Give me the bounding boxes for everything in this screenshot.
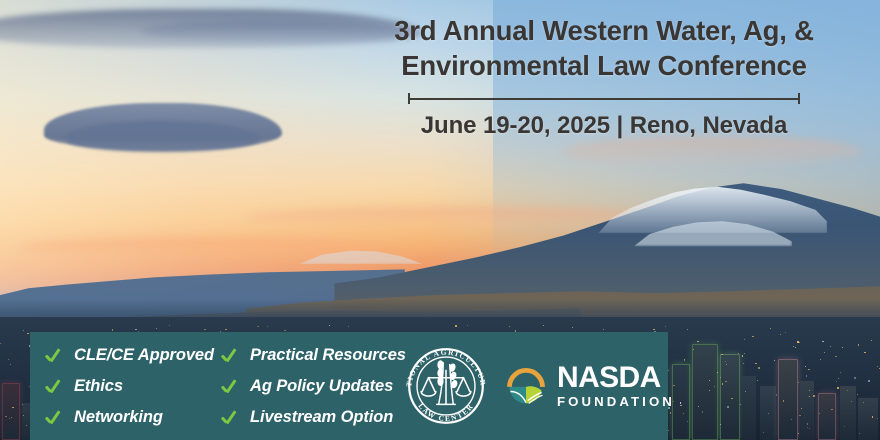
title-block: 3rd Annual Western Water, Ag, & Environm… [340,14,868,140]
building [692,344,718,440]
building [720,354,740,440]
event-date-location: June 19-20, 2025 | Reno, Nevada [340,112,868,140]
list-item: Practical Resources [220,341,396,369]
nasda-name: NASDA [557,363,675,393]
divider-line [408,98,800,100]
check-icon [220,376,241,397]
building [760,386,776,440]
check-icon [44,345,65,366]
nalc-logo: NATIONAL AGRICULTURAL LAW CENTER [400,340,492,432]
nasda-wordmark: NASDA FOUNDATION [557,363,675,408]
building [800,381,814,440]
feature-banner: CLE/CE Approved Ethics Networking Practi… [30,332,668,440]
feature-label: CLE/CE Approved [74,346,214,365]
building [742,376,756,440]
conference-promo-banner: 3rd Annual Western Water, Ag, & Environm… [0,0,880,440]
check-icon [220,407,241,428]
title-divider [408,93,800,104]
nasda-mark-icon [504,364,548,408]
list-item: Ag Policy Updates [220,372,396,400]
page-title-line-2: Environmental Law Conference [340,49,868,84]
check-icon [44,376,65,397]
list-item: Livestream Option [220,403,396,431]
cloud-mid-right [563,136,862,167]
feature-label: Ethics [74,377,123,396]
list-item: Ethics [44,372,216,400]
check-icon [220,345,241,366]
building [2,383,20,440]
feature-label: Livestream Option [250,408,393,427]
nasda-subtitle: FOUNDATION [557,395,675,408]
lenticular-cloud-base [66,121,260,152]
page-title-line-1: 3rd Annual Western Water, Ag, & [340,14,868,49]
feature-label: Ag Policy Updates [250,377,393,396]
feature-list: CLE/CE Approved Ethics Networking Practi… [30,341,396,431]
check-icon [44,407,65,428]
feature-label: Networking [74,408,163,427]
building [818,393,836,440]
feature-column-1: CLE/CE Approved Ethics Networking [44,341,216,431]
building [778,359,798,440]
feature-label: Practical Resources [250,346,406,365]
nasda-logo: NASDA FOUNDATION [504,363,675,408]
feature-column-2: Practical Resources Ag Policy Updates Li… [220,341,396,431]
list-item: Networking [44,403,216,431]
building [858,398,878,440]
divider-cap-right [798,93,800,104]
list-item: CLE/CE Approved [44,341,216,369]
building [840,386,856,440]
